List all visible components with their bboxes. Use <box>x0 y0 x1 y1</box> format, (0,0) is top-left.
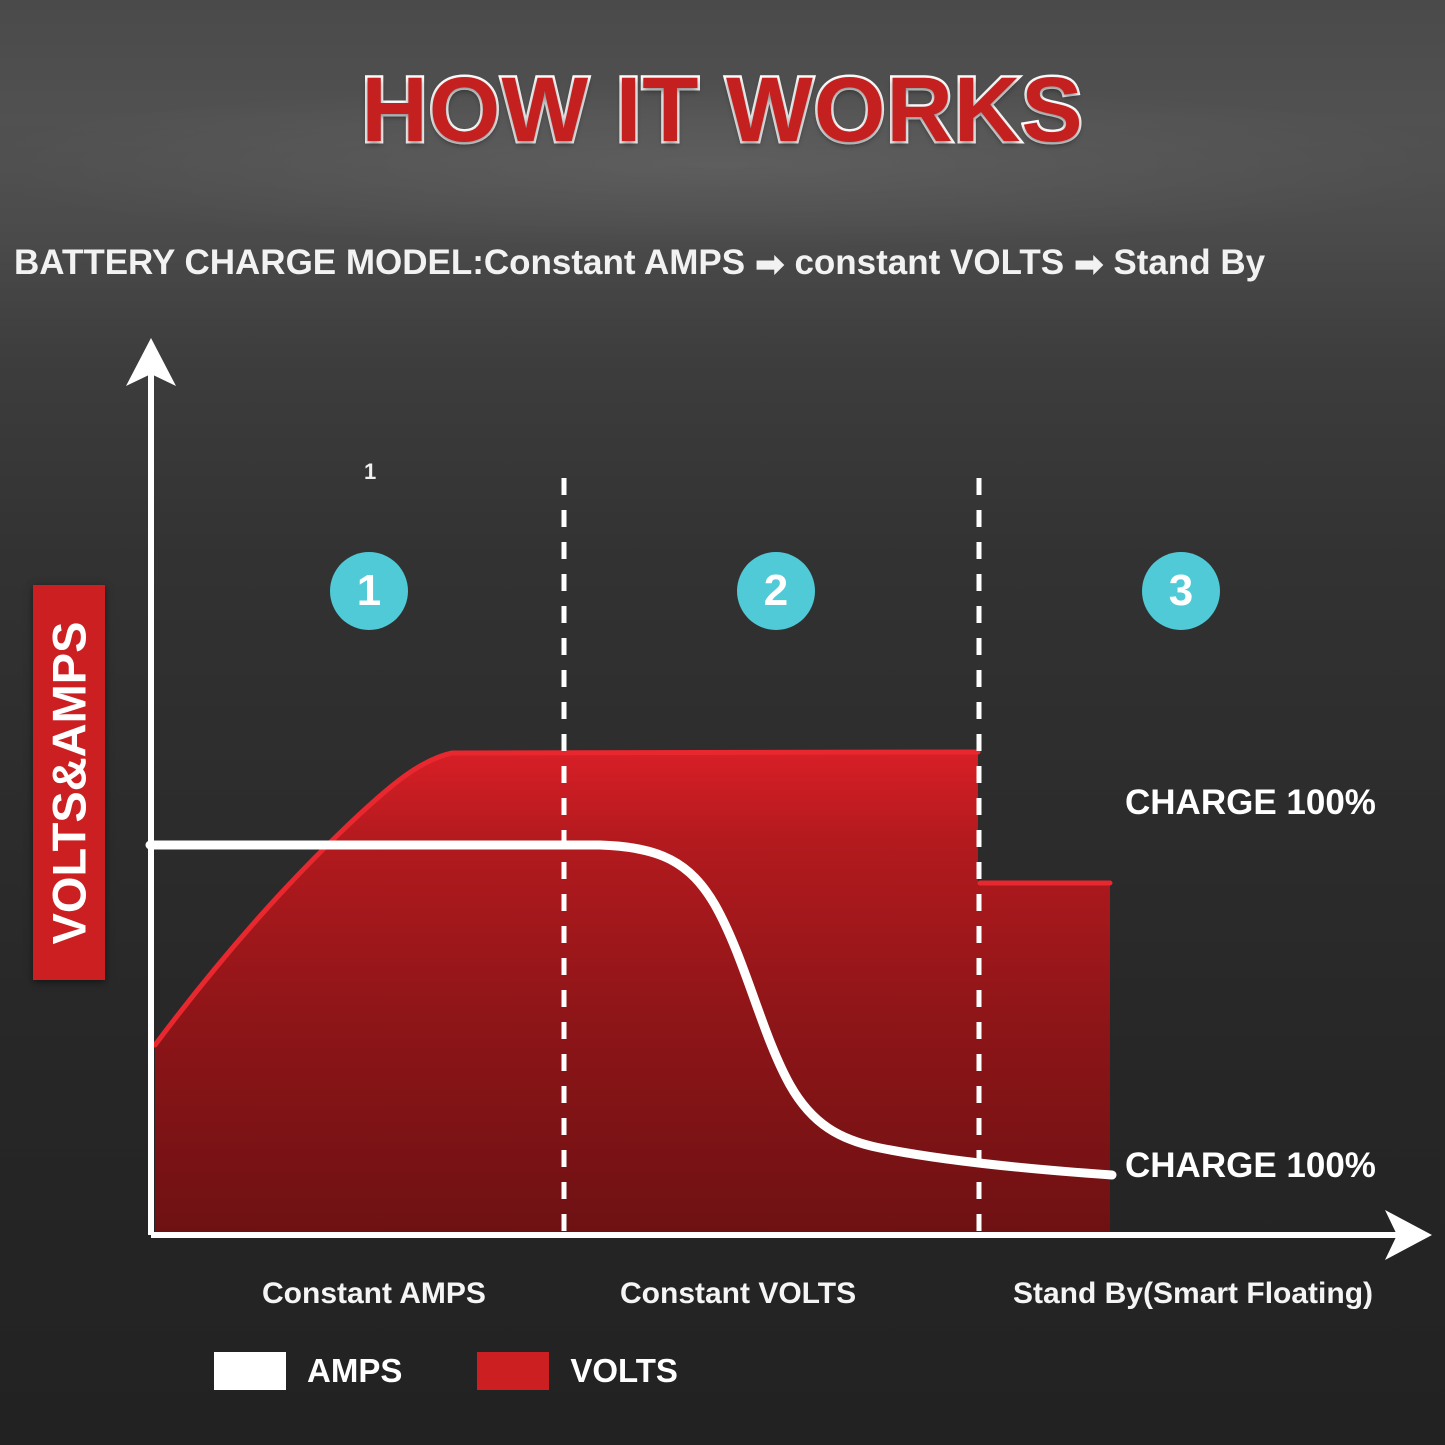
legend-item-volts: VOLTS <box>477 1352 678 1390</box>
x-axis-label-stand-by: Stand By(Smart Floating) <box>1013 1277 1373 1311</box>
charge-label-top: CHARGE 100% <box>1125 783 1376 823</box>
legend-label-amps: AMPS <box>307 1352 402 1390</box>
charge-curve-chart <box>0 0 1445 1445</box>
legend-swatch-amps <box>214 1352 286 1390</box>
phase-1-small-marker: 1 <box>364 459 376 485</box>
phase-badge-3[interactable]: 3 <box>1142 552 1220 630</box>
phase-badge-1[interactable]: 1 <box>330 552 408 630</box>
x-axis-label-constant-amps: Constant AMPS <box>262 1277 486 1311</box>
legend-swatch-volts <box>477 1352 549 1390</box>
how-it-works-infographic: HOW IT WORKS BATTERY CHARGE MODEL:Consta… <box>0 0 1445 1445</box>
charge-label-bottom: CHARGE 100% <box>1125 1146 1376 1186</box>
chart-legend: AMPS VOLTS <box>214 1352 678 1390</box>
phase-badge-2[interactable]: 2 <box>737 552 815 630</box>
legend-item-amps: AMPS <box>214 1352 402 1390</box>
legend-label-volts: VOLTS <box>570 1352 678 1390</box>
x-axis-label-constant-volts: Constant VOLTS <box>620 1277 856 1311</box>
